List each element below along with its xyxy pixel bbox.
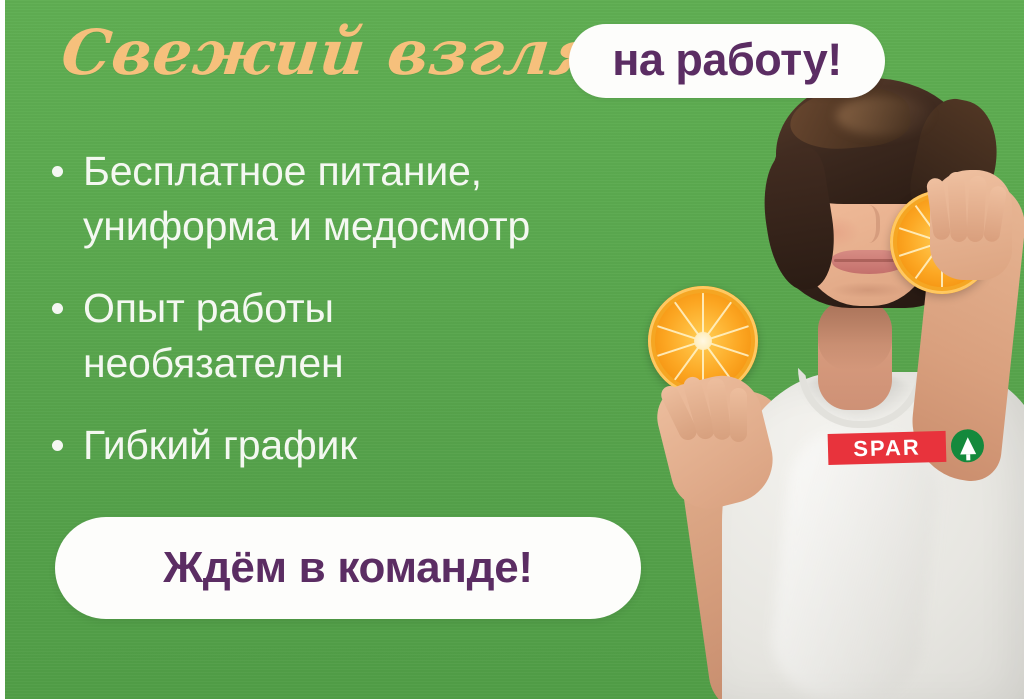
- benefits-list: Бесплатное питание, униформа и медосмотр…: [52, 144, 672, 501]
- list-item: Бесплатное питание, униформа и медосмотр: [52, 144, 672, 253]
- page-title: Свежий взгляд: [58, 16, 647, 89]
- left-edge-margin: [0, 0, 5, 699]
- list-item: Опыт работы необязателен: [52, 281, 672, 390]
- fir-tree-glyph: [959, 437, 975, 454]
- headline-badge: на работу!: [569, 24, 885, 98]
- join-team-button[interactable]: Ждём в команде!: [55, 517, 641, 619]
- bullet-dot-icon: [52, 166, 63, 177]
- hair-sheen: [836, 96, 932, 136]
- headline-badge-label: на работу!: [612, 34, 842, 86]
- neck-shadow: [818, 300, 892, 370]
- benefit-text: Бесплатное питание, униформа и медосмотр: [83, 144, 530, 253]
- bullet-dot-icon: [52, 440, 63, 451]
- benefit-text: Опыт работы необязателен: [83, 281, 343, 390]
- spar-logo-bar: SPAR: [828, 431, 947, 465]
- model-nose: [852, 205, 880, 243]
- chin-shadow: [830, 282, 906, 298]
- join-team-button-label: Ждём в команде!: [163, 543, 533, 593]
- spar-logo: SPAR: [828, 428, 979, 468]
- recruitment-banner: SPAR Свежий взгляд на работу! Бесплатное…: [0, 0, 1024, 699]
- spar-logo-text: SPAR: [853, 434, 921, 462]
- finger: [730, 388, 747, 442]
- benefit-text: Гибкий график: [83, 418, 357, 473]
- list-item: Гибкий график: [52, 418, 672, 473]
- finger: [947, 172, 968, 243]
- bullet-dot-icon: [52, 303, 63, 314]
